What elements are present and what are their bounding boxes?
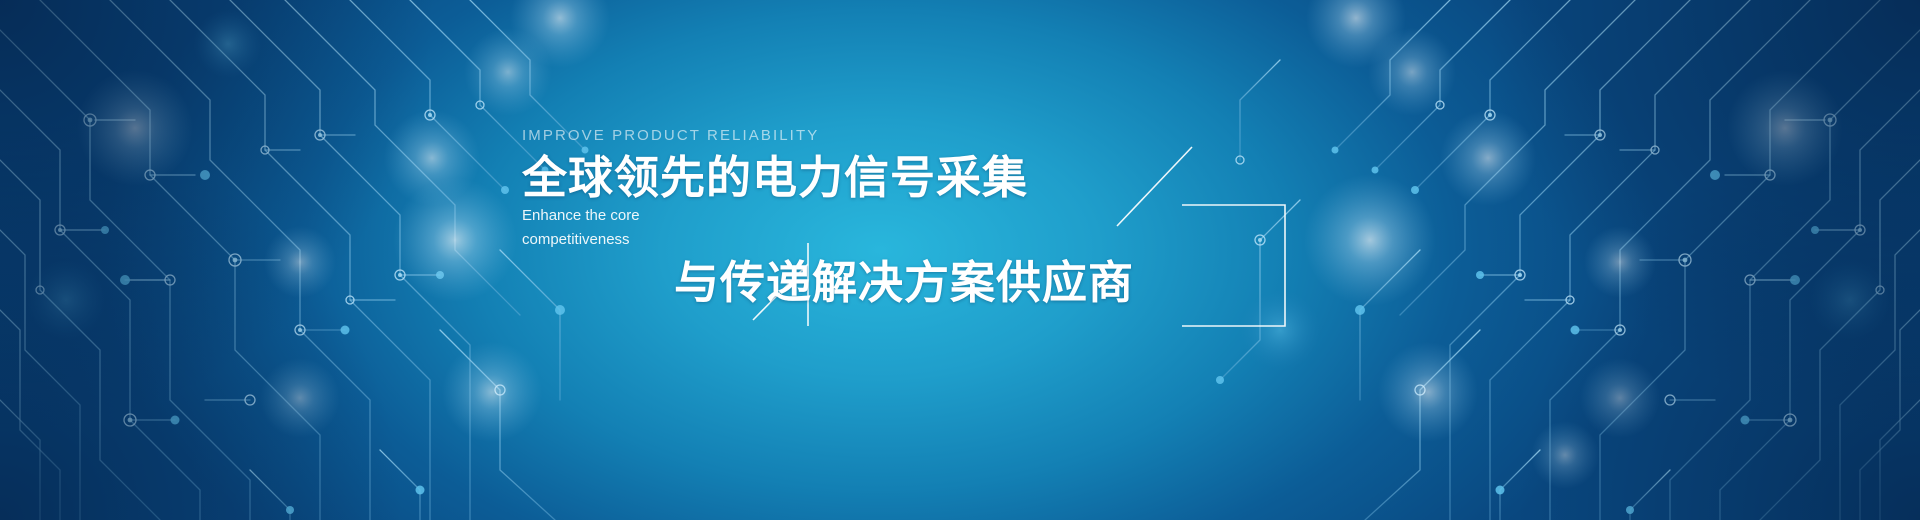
circuit-pattern-left [0, 0, 620, 520]
eyebrow-text: IMPROVE PRODUCT RELIABILITY [522, 126, 1262, 146]
subtext-line-2: competitiveness [522, 228, 672, 252]
circuit-pattern-right [1160, 0, 1920, 520]
headline-line-2: 与传递解决方案供应商 [674, 254, 1134, 312]
rectangle-outline [1182, 205, 1285, 326]
subtext-block: Enhance the core competitiveness [522, 204, 672, 252]
subtext-line-1: Enhance the core [522, 204, 672, 228]
headline-line-1: 全球领先的电力信号采集 [522, 149, 1262, 207]
headline-text-block: IMPROVE PRODUCT RELIABILITY 全球领先的电力信号采集 … [522, 126, 1262, 207]
hero-banner: IMPROVE PRODUCT RELIABILITY 全球领先的电力信号采集 … [0, 0, 1920, 520]
